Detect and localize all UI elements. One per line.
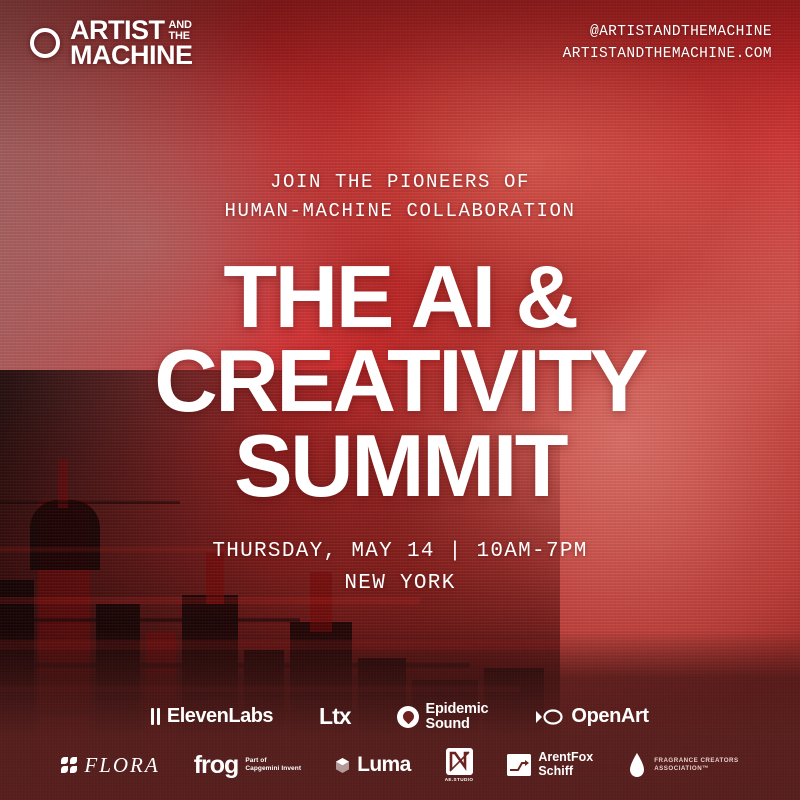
event-datetime: THURSDAY, MAY 14 | 10AM-7PM — [0, 536, 800, 568]
social-handle[interactable]: @ARTISTANDTHEMACHINE — [563, 22, 772, 44]
sponsor-label: FLORA — [84, 753, 159, 778]
sponsor-label-line1: FRAGRANCE CREATORS — [654, 757, 738, 764]
sponsor-row-2: FLORA frog Part of Capgemini Invent — [0, 748, 800, 782]
sponsor-fragrance-creators[interactable]: FRAGRANCE CREATORS ASSOCIATION™ — [627, 752, 738, 778]
kicker-text: JOIN THE PIONEERS OF HUMAN-MACHINE COLLA… — [0, 168, 800, 227]
event-poster: ARTIST AND THE MACHINE @ARTISTANDTHEMACH… — [0, 0, 800, 800]
event-details: THURSDAY, MAY 14 | 10AM-7PM NEW YORK — [0, 536, 800, 599]
flora-petals-icon — [61, 757, 77, 773]
sponsor-label-line1: Epidemic — [426, 701, 489, 717]
event-location: NEW YORK — [0, 568, 800, 600]
sponsor-label-line2: ASSOCIATION™ — [654, 765, 709, 772]
sponsor-row-1: ElevenLabs Ltx Epidemic Sound — [0, 702, 800, 732]
frog-wordmark-icon: frog — [194, 751, 239, 780]
brand-line-machine: MACHINE — [70, 43, 193, 67]
sponsor-flora[interactable]: FLORA — [61, 753, 159, 778]
sponsor-label: OpenArt — [571, 705, 648, 728]
sponsor-epidemic-sound[interactable]: Epidemic Sound — [397, 702, 489, 732]
sponsor-label: ElevenLabs — [167, 705, 273, 728]
website-url[interactable]: ARTISTANDTHEMACHINE.COM — [563, 44, 772, 66]
kicker-line-2: HUMAN-MACHINE COLLABORATION — [0, 197, 800, 226]
arentfox-schiff-mark-icon — [507, 754, 531, 776]
sponsor-label-line2: Schiff — [538, 764, 573, 778]
sponsor-label: Luma — [357, 753, 411, 777]
sponsor-sub-line2: Capgemini Invent — [245, 765, 301, 772]
epidemic-sound-circle-icon — [397, 706, 419, 728]
sponsor-label-line2: Sound — [426, 716, 470, 732]
sponsor-label-line1: ArentFox — [538, 750, 593, 764]
sponsor-sub-line1: Part of — [245, 757, 266, 764]
sponsor-openart[interactable]: OpenArt — [534, 705, 648, 728]
page-title: THE AI & CREATIVITY SUMMIT — [0, 255, 800, 508]
sponsor-luma[interactable]: Luma — [335, 753, 411, 777]
sponsor-caption: AE.STUDIO — [445, 777, 474, 782]
kicker-line-1: JOIN THE PIONEERS OF — [0, 168, 800, 197]
sponsor-ae-studio[interactable]: AE.STUDIO — [445, 748, 474, 782]
headline-line-1: THE AI & — [0, 255, 800, 339]
sponsor-elevenlabs[interactable]: ElevenLabs — [151, 705, 273, 728]
sponsor-logos: ElevenLabs Ltx Epidemic Sound — [0, 702, 800, 782]
sponsor-ltx[interactable]: Ltx — [319, 703, 351, 730]
contact-handles: @ARTISTANDTHEMACHINE ARTISTANDTHEMACHINE… — [563, 22, 772, 66]
sponsor-arentfox-schiff[interactable]: ArentFox Schiff — [507, 751, 593, 779]
ltx-wordmark-icon: Ltx — [319, 703, 351, 730]
sponsor-frog[interactable]: frog Part of Capgemini Invent — [194, 751, 301, 780]
elevenlabs-bars-icon — [151, 708, 160, 725]
luma-cube-icon — [335, 757, 350, 774]
headline-line-2: CREATIVITY — [0, 339, 800, 423]
ae-studio-monogram-icon — [446, 748, 473, 775]
fragrance-droplet-icon — [627, 752, 647, 778]
openart-infinity-icon — [534, 708, 564, 726]
brand-logo[interactable]: ARTIST AND THE MACHINE — [30, 18, 193, 68]
headline-line-3: SUMMIT — [0, 424, 800, 508]
brand-line-artist: ARTIST — [70, 18, 165, 42]
circle-ring-icon — [30, 28, 60, 58]
